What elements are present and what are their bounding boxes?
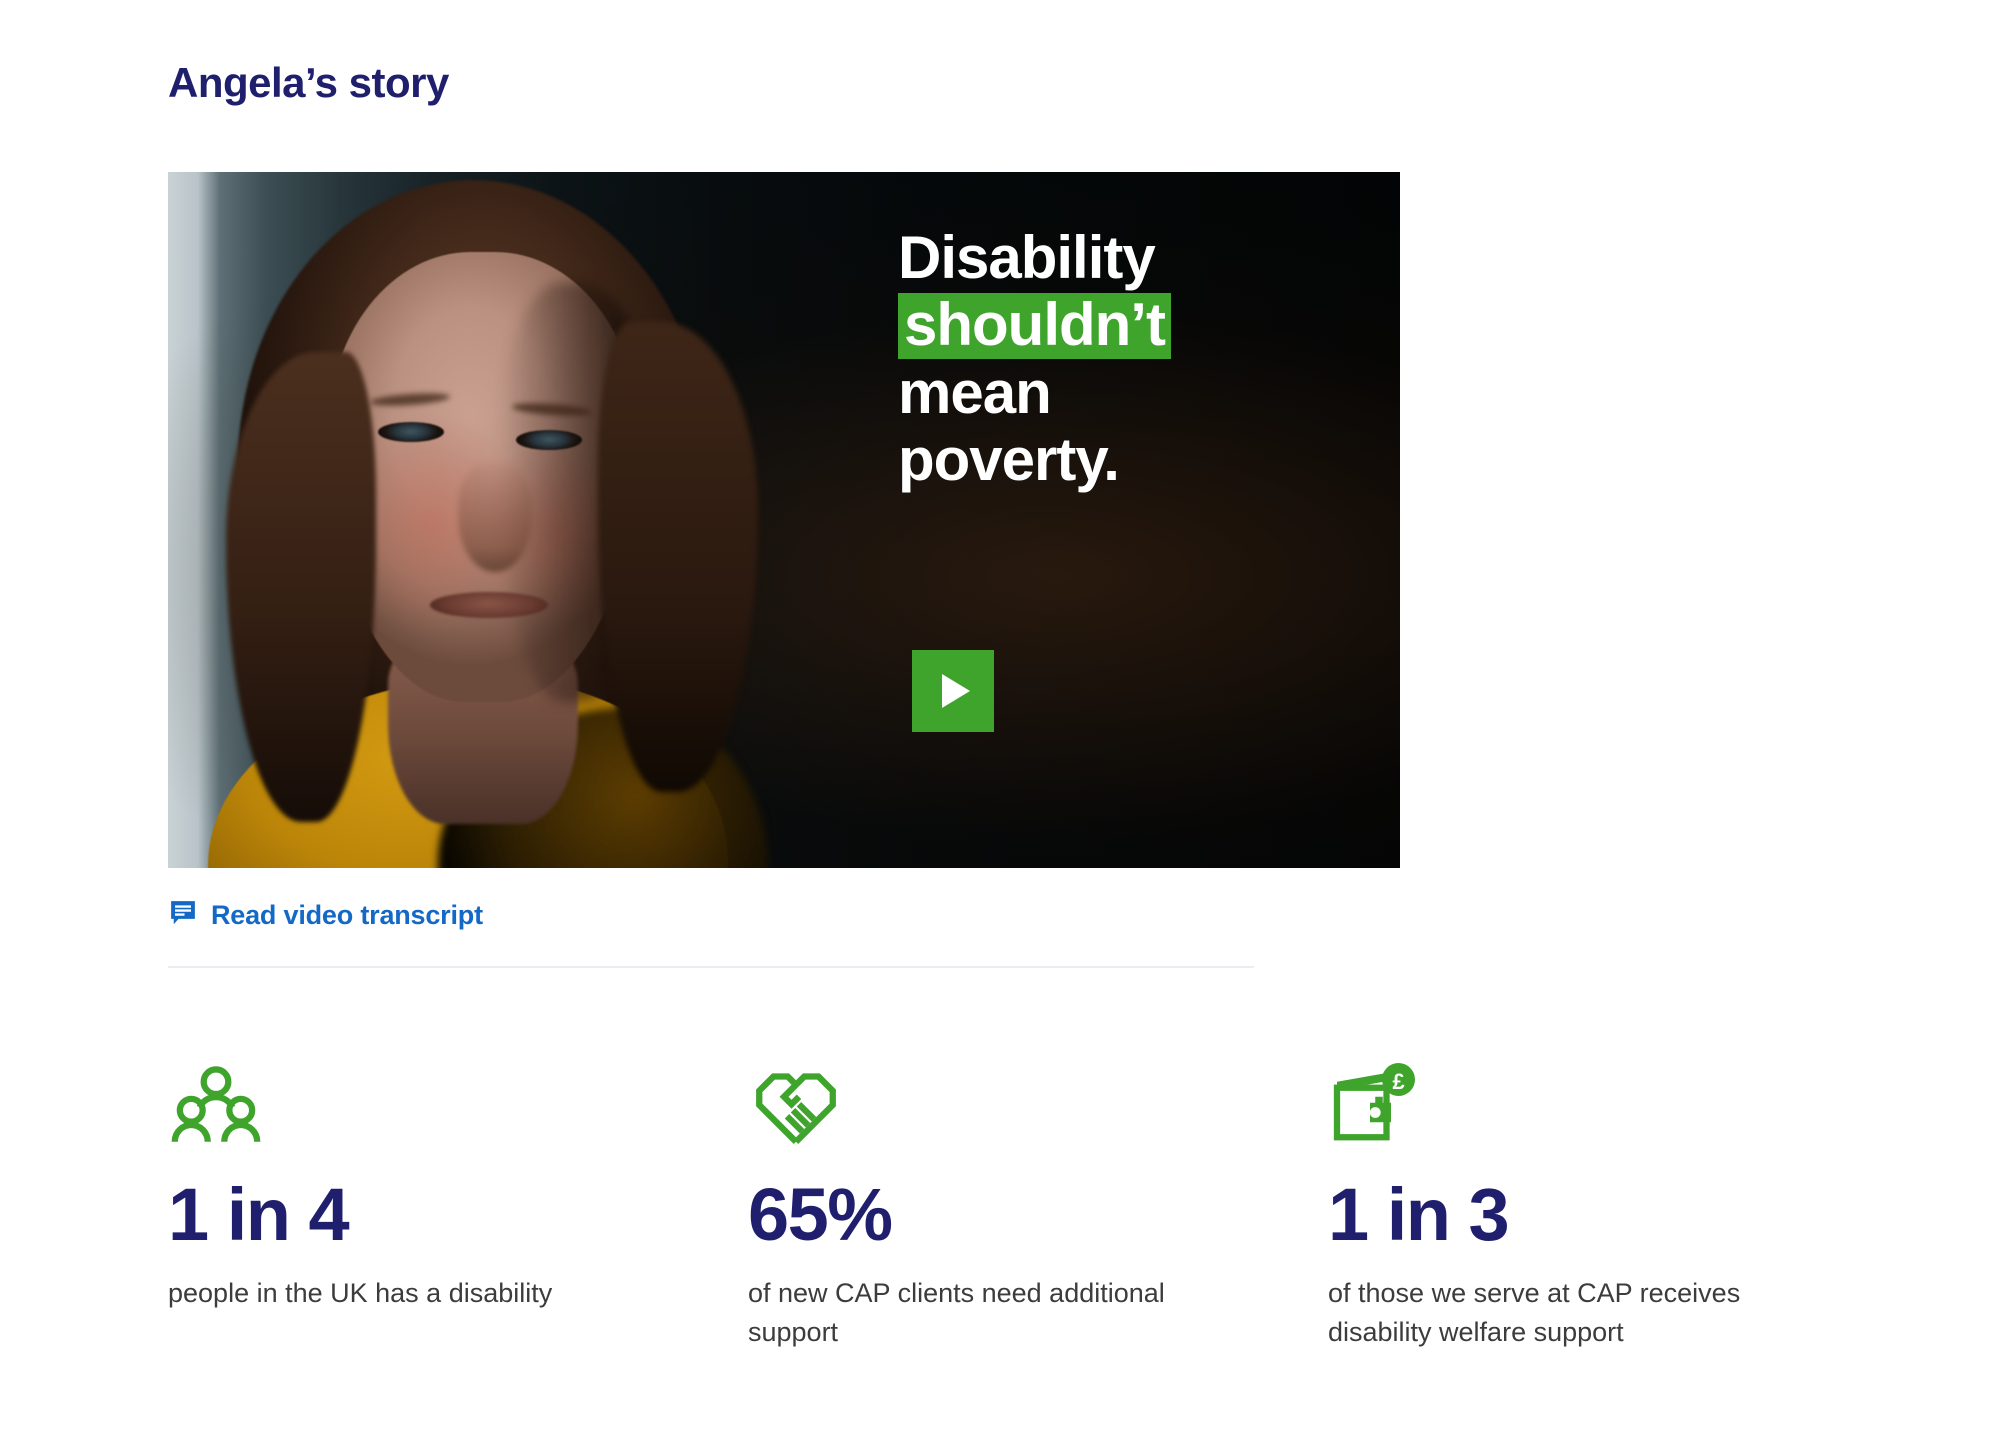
subject-mouth [430,592,548,618]
page-title: Angela’s story [168,60,449,106]
subject-eye-left [378,422,444,442]
heart-handshake-icon [748,1060,1258,1156]
stat-value: 65% [748,1178,1258,1252]
stat-item: 1 in 4 people in the UK has a disability [168,1060,748,1352]
subject-eye-right [516,430,582,450]
stat-value: 1 in 3 [1328,1178,1838,1252]
page-root: Angela’s story Disability shouldn’t mean… [0,0,2000,1433]
video-caption-line-2: shouldn’t [898,291,1358,359]
stat-value: 1 in 4 [168,1178,678,1252]
read-video-transcript-label: Read video transcript [211,900,483,931]
stat-caption: of new CAP clients need additional suppo… [748,1274,1218,1352]
wallet-pound-coin-icon: £ [1328,1060,1838,1156]
video-caption-line-3: mean [898,359,1358,426]
video-caption-line-1: Disability [898,224,1358,291]
transcript-speech-bubble-icon [168,898,198,933]
stat-caption: of those we serve at CAP receives disabi… [1328,1274,1798,1352]
video-player[interactable]: Disability shouldn’t mean poverty. [168,172,1400,868]
play-triangle-icon [942,674,970,708]
play-button[interactable] [912,650,994,732]
stat-caption: people in the UK has a disability [168,1274,638,1313]
video-caption-line-4: poverty. [898,426,1358,493]
svg-text:£: £ [1392,1069,1404,1094]
stats-row: 1 in 4 people in the UK has a disability… [168,1060,1958,1352]
subject-nose [458,462,532,572]
video-caption-highlight: shouldn’t [898,293,1171,359]
stat-item: 65% of new CAP clients need additional s… [748,1060,1328,1352]
read-video-transcript-link[interactable]: Read video transcript [168,898,483,933]
stat-item: £ 1 in 3 of those we serve at CAP receiv… [1328,1060,1908,1352]
section-divider [168,966,1254,968]
video-caption: Disability shouldn’t mean poverty. [898,224,1358,494]
three-people-icon [168,1060,678,1156]
